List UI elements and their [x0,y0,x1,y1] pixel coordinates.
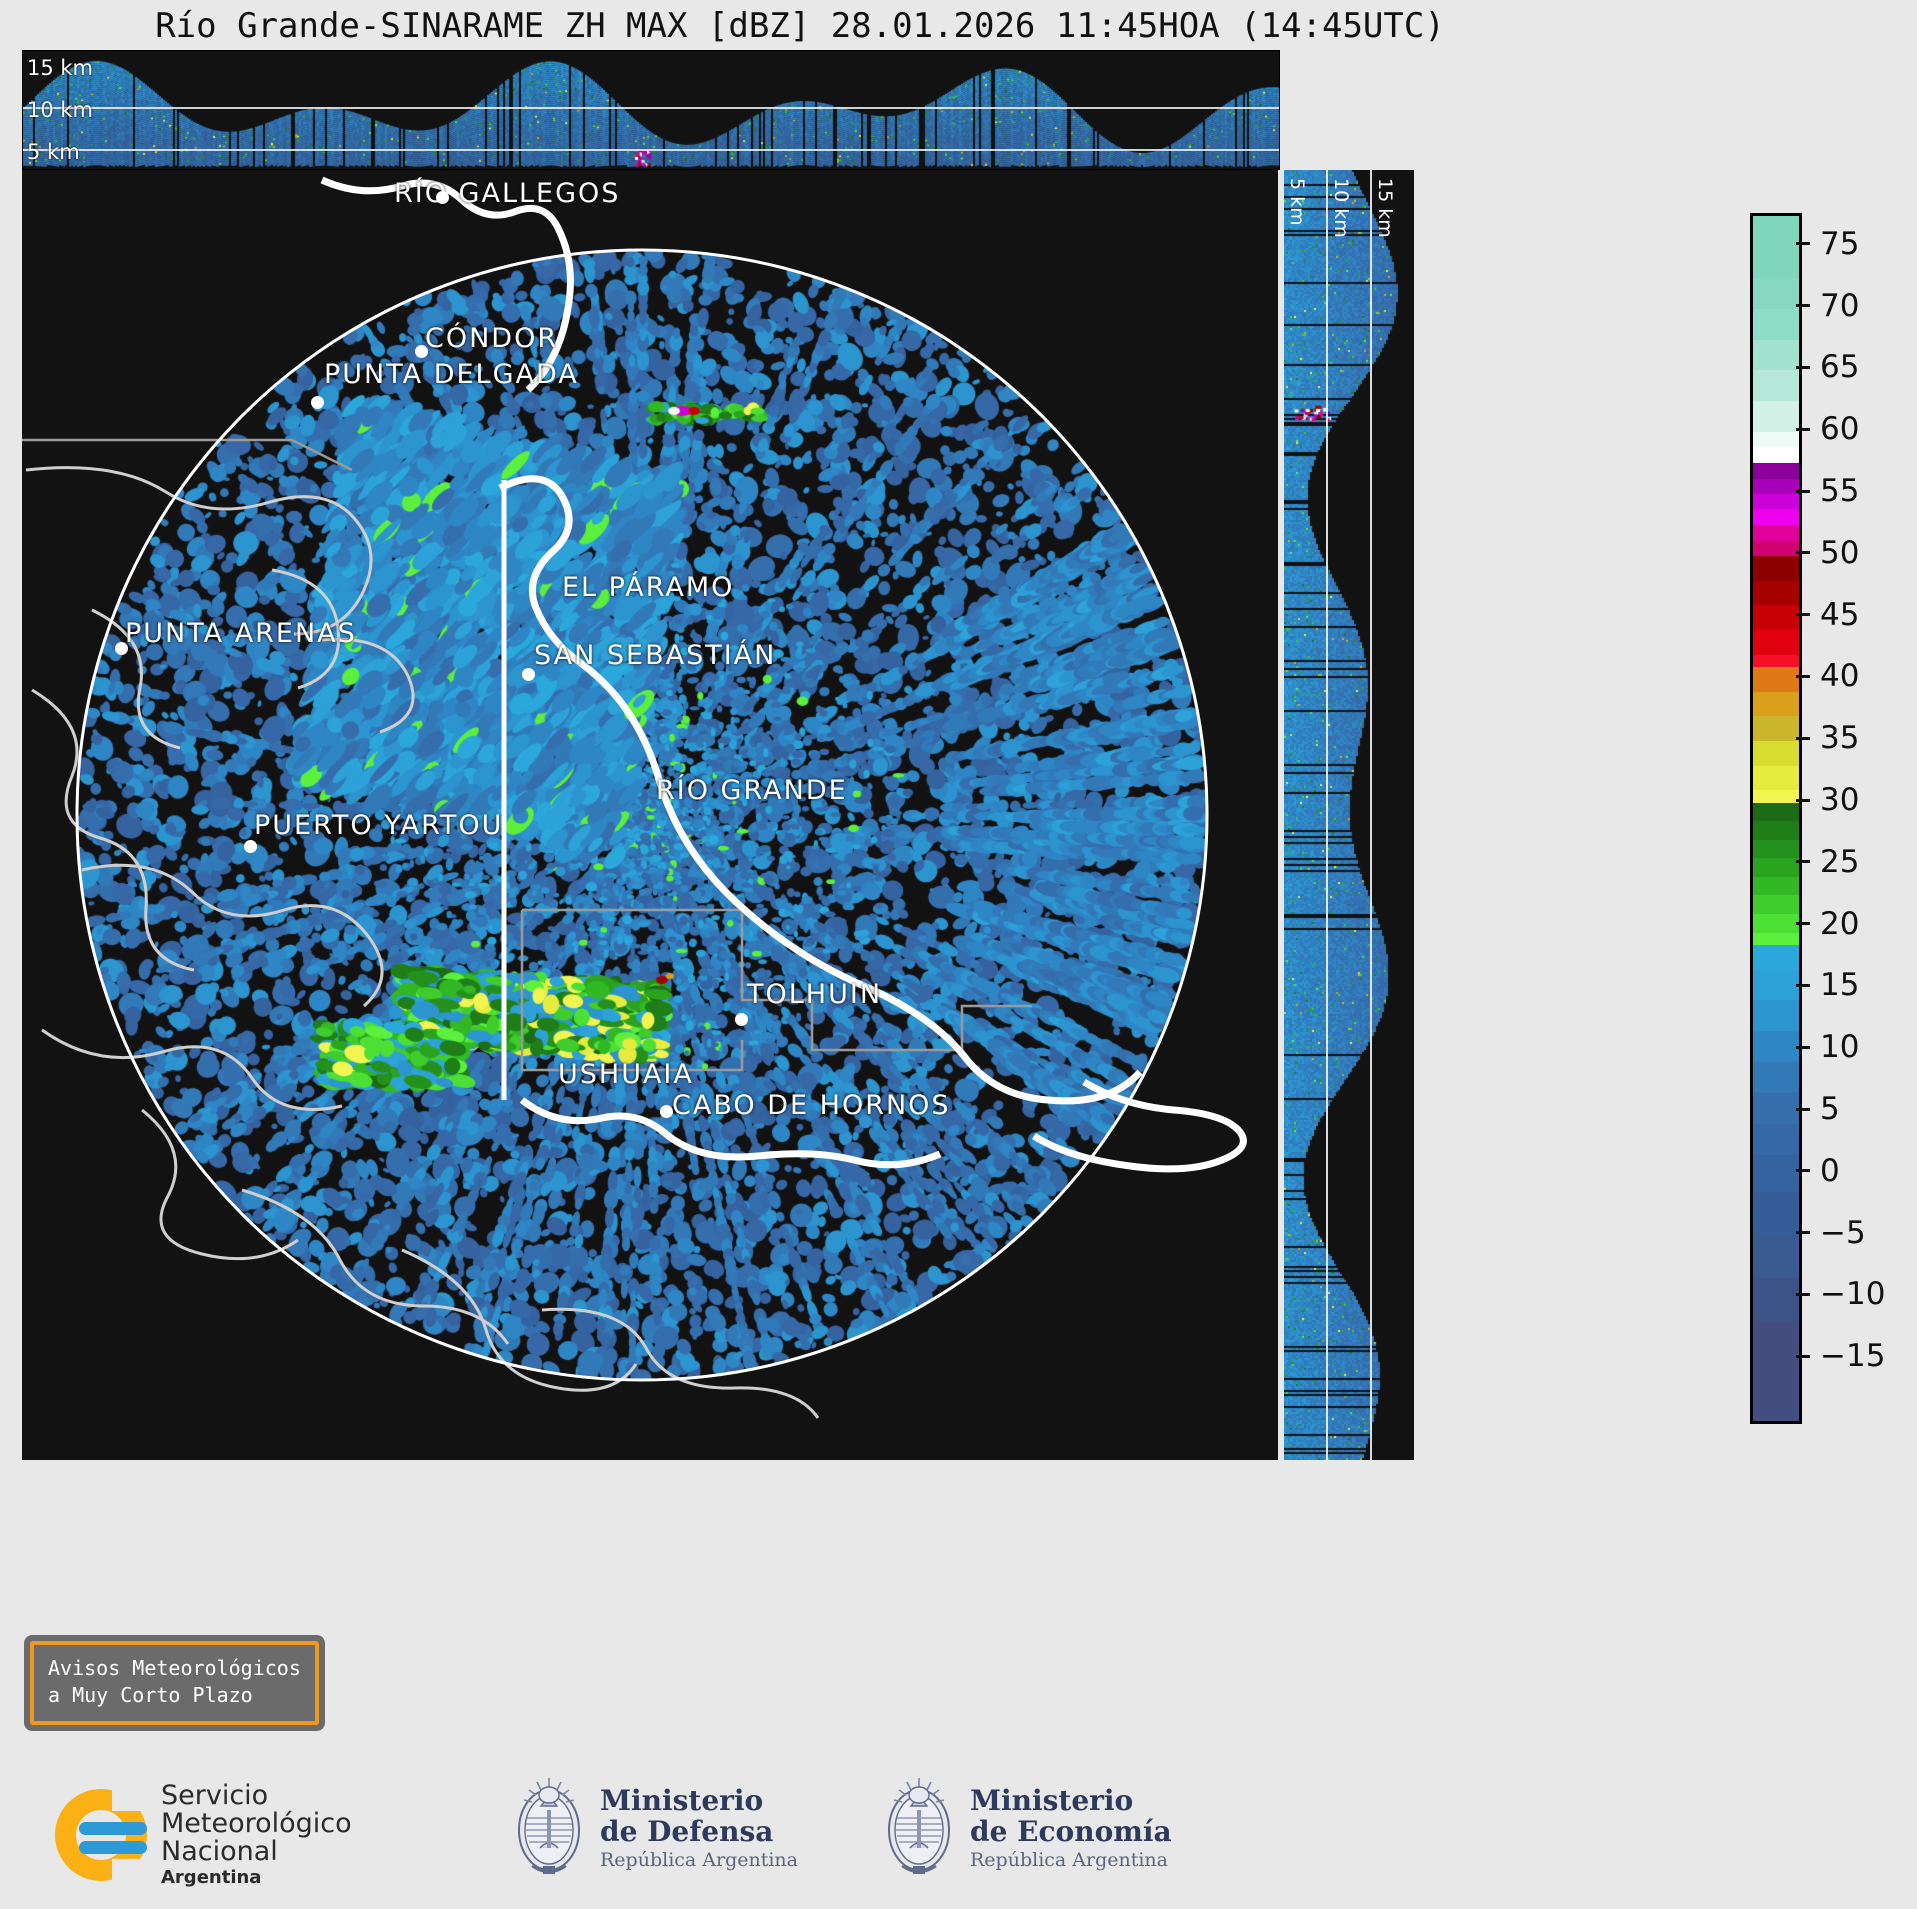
colorbar-tick: 50 [1796,535,1859,571]
defensa-line-3: República Argentina [600,1850,798,1871]
smn-line-2: Meteorológico [161,1810,352,1838]
colorbar-segment [1753,1062,1799,1093]
city-marker [415,345,428,358]
colorbar-segment [1753,858,1799,877]
xsec-label-5km: 5 km [27,140,80,164]
vertical-strip-canvas [1284,170,1414,1460]
colorbar-segment [1753,840,1799,859]
colorbar-segment [1753,479,1799,494]
colorbar-tick-label: −10 [1820,1276,1885,1312]
colorbar-segment [1753,1235,1799,1278]
colorbar-tick-label: 60 [1820,411,1859,447]
cross-section-canvas [23,51,1279,169]
map-path [522,910,1032,1050]
colorbar-segment [1753,432,1799,447]
colorbar-tick-label: 65 [1820,349,1859,385]
defensa-line-2: de Defensa [600,1816,798,1847]
colorbar-segment [1753,1031,1799,1062]
coat-of-arms-icon [510,1774,588,1882]
defensa-line-1: Ministerio [600,1785,798,1816]
colorbar-ticks: 757065605550454035302520151050−5−10−15 [1796,213,1916,1418]
smn-line-4: Argentina [161,1869,352,1888]
colorbar-segment [1753,1000,1799,1031]
colorbar-segment [1753,716,1799,741]
colorbar-tick: 30 [1796,782,1859,818]
vstrip-label-10km: 10 km [1330,178,1352,238]
colorbar-segment [1753,509,1799,525]
colorbar-segment [1753,541,1799,556]
colorbar-segment [1753,1124,1799,1155]
map-path [142,1110,298,1259]
vstrip-gridline-1 [1326,170,1328,1460]
city-marker [735,1013,748,1026]
map-path [272,570,339,688]
colorbar-tick-label: 55 [1820,473,1859,509]
ministry-economia-text: Ministerio de Economía República Argenti… [970,1785,1172,1872]
colorbar-segment [1753,556,1799,581]
colorbar-tick: −5 [1796,1215,1866,1251]
xsec-label-10km: 10 km [27,98,93,122]
map-path [522,910,742,1070]
colorbar-segment [1753,494,1799,509]
colorbar-tick: 20 [1796,906,1859,942]
colorbar-tick-label: 35 [1820,720,1859,756]
economia-line-2: de Economía [970,1816,1172,1847]
ministry-economia-logo: Ministerio de Economía República Argenti… [880,1774,1172,1882]
radar-ppi-panel[interactable]: RÍO GALLEGOSCÓNDORPUNTA DELGADAEL PÁRAMO… [22,170,1278,1460]
map-path [92,610,180,748]
city-marker [522,668,535,681]
vstrip-gridline-2 [1370,170,1372,1460]
colorbar-segment [1753,692,1799,717]
colorbar-segment [1753,340,1799,371]
colorbar-tick: 0 [1796,1153,1840,1189]
colorbar-segment [1753,1093,1799,1124]
colorbar-segment [1753,1278,1799,1321]
xsec-label-15km: 15 km [27,56,93,80]
economia-line-1: Ministerio [970,1785,1172,1816]
map-path [500,479,1140,1101]
map-path [32,690,194,970]
smn-line-1: Servicio [161,1782,352,1810]
colorbar-segment [1753,945,1799,970]
city-marker [244,840,257,853]
ministry-defensa-logo: Ministerio de Defensa República Argentin… [510,1774,798,1882]
economia-line-3: República Argentina [970,1850,1172,1871]
colorbar-segment [1753,630,1799,655]
vstrip-label-15km: 15 km [1374,178,1396,238]
colorbar-tick: 55 [1796,473,1859,509]
colorbar-tick-label: 5 [1820,1091,1840,1127]
badge-line-2: a Muy Corto Plazo [48,1682,301,1709]
xsec-gridline-5km [23,149,1279,151]
colorbar-tick-label: 70 [1820,288,1859,324]
colorbar-segment [1753,741,1799,766]
colorbar-tick: 60 [1796,411,1859,447]
colorbar-segment [1753,1192,1799,1235]
colorbar-segment [1753,667,1799,692]
colorbar-tick-label: 0 [1820,1153,1840,1189]
colorbar-segment [1753,581,1799,606]
footer-logos: Servicio Meteorológico Nacional Argentin… [0,1760,1917,1909]
vstrip-label-5km: 5 km [1286,178,1308,226]
colorbar-segment [1753,1155,1799,1192]
vertical-cross-section-panel: 5 km 10 km 15 km [1284,170,1414,1460]
colorbar-segment [1753,790,1799,802]
colorbar-segment [1753,655,1799,667]
colorbar-tick-label: 10 [1820,1029,1859,1065]
colorbar-segment [1753,216,1799,278]
colorbar-tick-label: −5 [1820,1215,1866,1251]
colorbar-segment [1753,914,1799,933]
colorbar-tick: 35 [1796,720,1859,756]
page-title: Río Grande-SINARAME ZH MAX [dBZ] 28.01.2… [0,6,1600,46]
colorbar-tick-label: 45 [1820,597,1859,633]
city-marker [436,191,449,204]
colorbar-segment [1753,803,1799,822]
colorbar-segment [1753,401,1799,432]
map-path [22,440,352,470]
city-marker [311,396,324,409]
colorbar-segment [1753,933,1799,945]
smn-logo: Servicio Meteorológico Nacional Argentin… [55,1782,352,1888]
map-path [402,1250,636,1390]
city-marker [660,1105,673,1118]
colorbar-segment [1753,463,1799,479]
colorbar-tick: −10 [1796,1276,1885,1312]
colorbar [1750,213,1802,1424]
status-badge[interactable]: Avisos Meteorológicos a Muy Corto Plazo [30,1641,319,1725]
colorbar-segment [1753,525,1799,541]
map-path [42,1030,342,1110]
colorbar-tick-label: 75 [1820,226,1859,262]
coat-of-arms-icon [880,1774,958,1882]
colorbar-tick: 75 [1796,226,1859,262]
smn-mark-icon [55,1789,147,1881]
map-overlay [22,170,1278,1460]
map-path [242,1190,508,1344]
colorbar-segment [1753,877,1799,896]
colorbar-segment [1753,766,1799,791]
colorbar-segment [1753,605,1799,630]
colorbar-tick: 45 [1796,597,1859,633]
ministry-defensa-text: Ministerio de Defensa República Argentin… [600,1785,798,1872]
map-path [82,865,382,1006]
map-path [1034,1082,1243,1169]
colorbar-tick: 65 [1796,349,1859,385]
colorbar-tick: 10 [1796,1029,1859,1065]
colorbar-segment [1753,309,1799,340]
colorbar-tick: 40 [1796,658,1859,694]
colorbar-segment [1753,821,1799,840]
colorbar-tick-label: 20 [1820,906,1859,942]
colorbar-segment [1753,1322,1799,1421]
colorbar-tick: 70 [1796,288,1859,324]
colorbar-tick: 25 [1796,844,1859,880]
cross-section-panel: 15 km 10 km 5 km [22,50,1280,170]
colorbar-tick-label: 30 [1820,782,1859,818]
colorbar-tick-label: 50 [1820,535,1859,571]
city-marker [115,642,128,655]
map-path [26,468,371,634]
colorbar-tick-label: −15 [1820,1338,1885,1374]
smn-logo-text: Servicio Meteorológico Nacional Argentin… [161,1782,352,1888]
range-ring [77,250,1207,1380]
badge-line-1: Avisos Meteorológicos [48,1655,301,1682]
colorbar-tick: −15 [1796,1338,1885,1374]
colorbar-segment [1753,370,1799,401]
smn-line-3: Nacional [161,1838,352,1866]
colorbar-segment [1753,970,1799,1001]
colorbar-tick-label: 15 [1820,967,1859,1003]
colorbar-segment [1753,447,1799,463]
xsec-gridline-10km [23,107,1279,109]
colorbar-segment [1753,278,1799,309]
colorbar-tick: 15 [1796,967,1859,1003]
colorbar-tick: 5 [1796,1091,1840,1127]
map-path [522,1100,940,1165]
colorbar-tick-label: 25 [1820,844,1859,880]
colorbar-tick-label: 40 [1820,658,1859,694]
colorbar-segment [1753,895,1799,914]
